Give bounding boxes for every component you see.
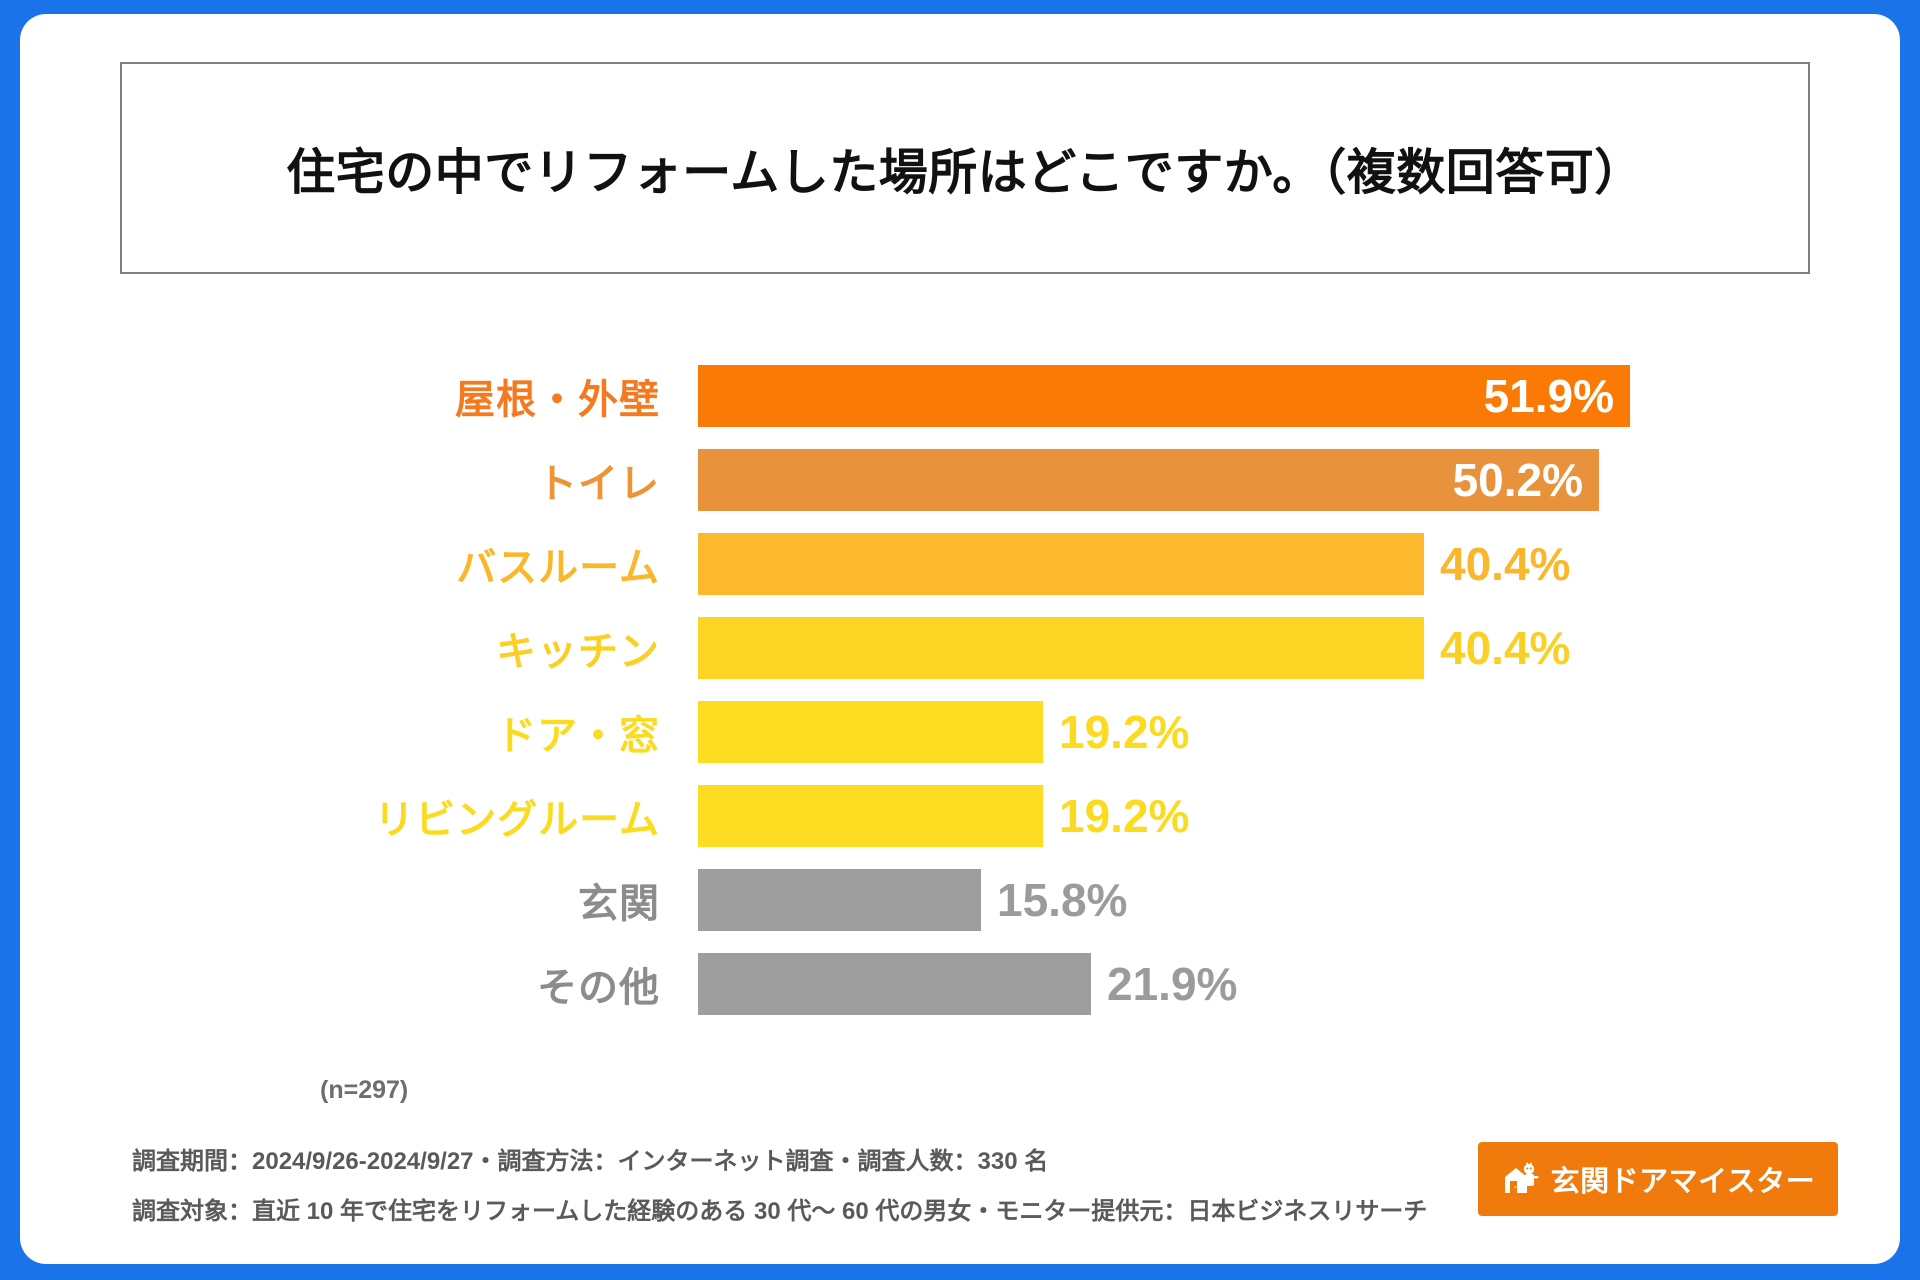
poster-card: 住宅の中でリフォームした場所はどこですか。（複数回答可） 屋根・外壁51.9%ト… bbox=[20, 14, 1900, 1264]
bar-holder: 40.4% bbox=[698, 533, 1570, 595]
bar-value-label: 21.9% bbox=[1107, 953, 1237, 1015]
bar-row: 玄関15.8% bbox=[20, 858, 1900, 942]
bar-value-label: 15.8% bbox=[997, 869, 1127, 931]
brand-logo[interactable]: 玄関ドアマイスター bbox=[1478, 1142, 1838, 1216]
bar-track: 51.9% bbox=[698, 354, 1630, 438]
bar-holder: 19.2% bbox=[698, 701, 1189, 763]
door-master-mark-icon bbox=[1501, 1159, 1541, 1199]
page-title: 住宅の中でリフォームした場所はどこですか。（複数回答可） bbox=[286, 133, 1644, 204]
bar-row: リビングルーム19.2% bbox=[20, 774, 1900, 858]
bar-value-label: 40.4% bbox=[1440, 617, 1570, 679]
bar-track: 15.8% bbox=[698, 858, 1127, 942]
bar-holder: 19.2% bbox=[698, 785, 1189, 847]
bar-value-label: 19.2% bbox=[1059, 701, 1189, 763]
footer-survey-target: 調査対象：直近 10 年で住宅をリフォームした経験のある 30 代〜 60 代の… bbox=[132, 1200, 1532, 1224]
bar-rect bbox=[698, 617, 1424, 679]
bar-category-label: バスルーム bbox=[20, 535, 678, 593]
footer: 調査期間：2024/9/26-2024/9/27・調査方法：インターネット調査・… bbox=[132, 1150, 1532, 1250]
bar-value-label: 19.2% bbox=[1059, 785, 1189, 847]
bar-rect bbox=[698, 533, 1424, 595]
bar-row: ドア・窓19.2% bbox=[20, 690, 1900, 774]
bar-category-label: 玄関 bbox=[20, 871, 678, 929]
bar-row: キッチン40.4% bbox=[20, 606, 1900, 690]
sample-size-note: (n=297) bbox=[320, 1076, 408, 1105]
bar-category-label: リビングルーム bbox=[20, 787, 678, 845]
bar-rect bbox=[698, 785, 1043, 847]
bar-holder: 50.2% bbox=[698, 449, 1599, 511]
bar-category-label: キッチン bbox=[20, 619, 678, 677]
bar-row: バスルーム40.4% bbox=[20, 522, 1900, 606]
footer-survey-period: 調査期間：2024/9/26-2024/9/27・調査方法：インターネット調査・… bbox=[132, 1150, 1532, 1174]
bar-holder: 40.4% bbox=[698, 617, 1570, 679]
brand-logo-text: 玄関ドアマイスター bbox=[1551, 1158, 1816, 1200]
bar-value-label: 51.9% bbox=[1484, 365, 1614, 427]
bar-value-label: 40.4% bbox=[1440, 533, 1570, 595]
bar-track: 19.2% bbox=[698, 690, 1189, 774]
bar-track: 19.2% bbox=[698, 774, 1189, 858]
bar-rect bbox=[698, 953, 1091, 1015]
bar-track: 21.9% bbox=[698, 942, 1237, 1026]
bar-category-label: トイレ bbox=[20, 451, 678, 509]
bar-value-label: 50.2% bbox=[1453, 449, 1583, 511]
bar-row: 屋根・外壁51.9% bbox=[20, 354, 1900, 438]
bar-rect bbox=[698, 701, 1043, 763]
bar-rect bbox=[698, 869, 981, 931]
bar-category-label: その他 bbox=[20, 955, 678, 1013]
poster-root: 住宅の中でリフォームした場所はどこですか。（複数回答可） 屋根・外壁51.9%ト… bbox=[0, 0, 1920, 1280]
bar-holder: 51.9% bbox=[698, 365, 1630, 427]
bar-row: その他21.9% bbox=[20, 942, 1900, 1026]
bar-row: トイレ50.2% bbox=[20, 438, 1900, 522]
bar-holder: 15.8% bbox=[698, 869, 1127, 931]
bar-track: 50.2% bbox=[698, 438, 1599, 522]
bar-holder: 21.9% bbox=[698, 953, 1237, 1015]
bar-category-label: ドア・窓 bbox=[20, 703, 678, 761]
title-box: 住宅の中でリフォームした場所はどこですか。（複数回答可） bbox=[120, 62, 1810, 274]
bar-category-label: 屋根・外壁 bbox=[20, 367, 678, 425]
bar-track: 40.4% bbox=[698, 522, 1570, 606]
bar-chart: 屋根・外壁51.9%トイレ50.2%バスルーム40.4%キッチン40.4%ドア・… bbox=[20, 354, 1900, 1114]
bar-track: 40.4% bbox=[698, 606, 1570, 690]
